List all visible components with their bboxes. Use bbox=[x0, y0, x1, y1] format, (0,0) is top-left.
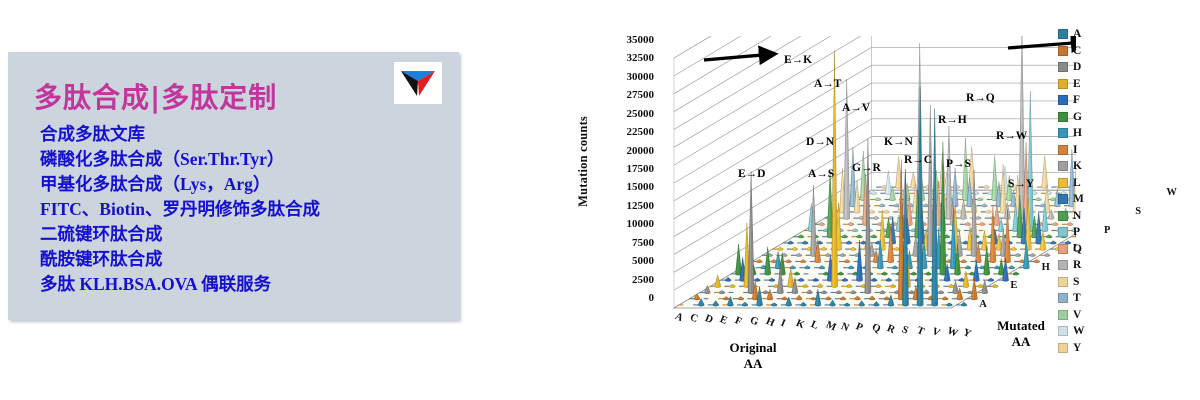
legend-label: R bbox=[1073, 259, 1081, 271]
promo-line: 合成多肽文库 bbox=[40, 122, 440, 147]
peak-annotation-A-to-S: A→S bbox=[808, 168, 834, 180]
peak-annotation-K-to-N: K→N bbox=[884, 136, 913, 148]
y-axis-tick: 32500 bbox=[627, 53, 655, 63]
z-axis-tick-E: E bbox=[1010, 280, 1017, 291]
z-axis-tick-A: A bbox=[979, 299, 987, 310]
legend-swatch-icon bbox=[1058, 178, 1068, 188]
data-cone bbox=[1034, 259, 1040, 262]
legend-swatch-icon bbox=[1058, 29, 1068, 39]
z-axis-tick-S: S bbox=[1135, 206, 1141, 217]
x-axis-tick-T: T bbox=[915, 325, 926, 338]
legend-label: V bbox=[1073, 309, 1081, 321]
peak-annotation-R-to-Q: R→Q bbox=[966, 92, 995, 104]
x-axis-tick-Y: Y bbox=[961, 327, 972, 340]
legend-label: W bbox=[1073, 325, 1085, 337]
x-axis-title: OriginalAA bbox=[698, 340, 808, 372]
data-cone bbox=[992, 284, 998, 287]
legend-item-C[interactable]: C bbox=[1058, 43, 1116, 60]
legend-label: A bbox=[1073, 28, 1081, 40]
peak-annotation-D-to-N: D→N bbox=[806, 136, 834, 148]
z-axis-tick-L: L bbox=[1073, 243, 1080, 254]
legend-swatch-icon bbox=[1058, 62, 1068, 72]
legend-item-T[interactable]: T bbox=[1058, 290, 1116, 307]
legend-label: C bbox=[1073, 45, 1081, 57]
y-axis-tick: 2500 bbox=[632, 275, 654, 285]
x-axis-tick-S: S bbox=[900, 324, 910, 336]
legend-label: H bbox=[1073, 127, 1082, 139]
promo-title: 多肽合成|多肽定制 bbox=[34, 76, 277, 116]
y-axis-tick: 30000 bbox=[627, 72, 655, 82]
x-axis-tick-P: P bbox=[855, 322, 865, 335]
z-axis-title: MutatedAA bbox=[976, 318, 1066, 350]
company-logo bbox=[394, 62, 442, 104]
legend-swatch-icon bbox=[1058, 95, 1068, 105]
y-axis-tick: 12500 bbox=[627, 201, 655, 211]
peak-annotation-A-to-T: A→T bbox=[814, 78, 841, 90]
mutation-counts-3d-chart: Mutation counts 350003250030000275002500… bbox=[580, 18, 1192, 386]
legend-item-Y[interactable]: Y bbox=[1058, 340, 1116, 357]
legend-swatch-icon bbox=[1058, 227, 1068, 237]
peak-annotation-A-to-V: A→V bbox=[842, 102, 870, 114]
peak-annotation-R-to-W: R→W bbox=[996, 130, 1027, 142]
legend-label: L bbox=[1073, 177, 1081, 189]
peak-annotation-G-to-R: G→R bbox=[852, 162, 881, 174]
legend-label: T bbox=[1073, 292, 1081, 304]
legend-swatch-icon bbox=[1058, 211, 1068, 221]
legend-label: I bbox=[1073, 144, 1077, 156]
y-axis-tick: 17500 bbox=[627, 164, 655, 174]
peak-annotation-R-to-H: R→H bbox=[938, 114, 967, 126]
legend-swatch-icon bbox=[1058, 161, 1068, 171]
peak-annotation-R-to-C: R→C bbox=[904, 154, 932, 166]
z-axis-tick-P: P bbox=[1104, 225, 1110, 236]
legend-swatch-icon bbox=[1058, 79, 1068, 89]
legend-item-W[interactable]: W bbox=[1058, 323, 1116, 340]
data-cone bbox=[961, 302, 967, 306]
legend-swatch-icon bbox=[1058, 244, 1068, 254]
promo-line: FITC、Biotin、罗丹明修饰多肽合成 bbox=[40, 197, 440, 222]
legend-item-E[interactable]: E bbox=[1058, 76, 1116, 93]
promo-line: 酰胺键环肽合成 bbox=[40, 247, 440, 272]
legend-swatch-icon bbox=[1058, 260, 1068, 270]
x-axis-tick-V: V bbox=[930, 326, 941, 339]
legend-item-V[interactable]: V bbox=[1058, 307, 1116, 324]
legend-label: Y bbox=[1073, 342, 1081, 354]
peak-annotation-E-to-D: E→D bbox=[738, 168, 765, 180]
legend-item-I[interactable]: I bbox=[1058, 142, 1116, 159]
legend-swatch-icon bbox=[1058, 277, 1068, 287]
y-axis-tick: 7500 bbox=[632, 238, 654, 248]
peak-annotation-P-to-S: P→S bbox=[946, 158, 971, 170]
legend-item-K[interactable]: K bbox=[1058, 158, 1116, 175]
legend-item-F[interactable]: F bbox=[1058, 92, 1116, 109]
y-axis-tick: 20000 bbox=[627, 146, 655, 156]
logo-icon bbox=[398, 66, 438, 100]
y-axis-ticks: 3500032500300002750025000225002000017500… bbox=[598, 40, 654, 298]
legend-swatch-icon bbox=[1058, 293, 1068, 303]
legend-label: M bbox=[1073, 193, 1084, 205]
legend-swatch-icon bbox=[1058, 46, 1068, 56]
legend-swatch-icon bbox=[1058, 145, 1068, 155]
z-axis-tick-H: H bbox=[1042, 262, 1050, 273]
legend-item-D[interactable]: D bbox=[1058, 59, 1116, 76]
promo-line: 磷酸化多肽合成（Ser.Thr.Tyr） bbox=[40, 147, 440, 172]
y-axis-title: Mutation counts bbox=[576, 116, 591, 207]
legend-item-G[interactable]: G bbox=[1058, 109, 1116, 126]
promo-line: 多肽 KLH.BSA.OVA 偶联服务 bbox=[40, 272, 440, 297]
legend-label: S bbox=[1073, 276, 1079, 288]
promo-line: 甲基化多肽合成（Lys，Arg） bbox=[40, 172, 440, 197]
promo-panel: 多肽合成|多肽定制 合成多肽文库 磷酸化多肽合成（Ser.Thr.Tyr） 甲基… bbox=[8, 52, 459, 320]
legend-label: G bbox=[1073, 111, 1082, 123]
promo-service-list: 合成多肽文库 磷酸化多肽合成（Ser.Thr.Tyr） 甲基化多肽合成（Lys，… bbox=[40, 122, 440, 297]
legend-label: N bbox=[1073, 210, 1081, 222]
data-cone bbox=[1044, 253, 1050, 256]
legend-item-Q[interactable]: Q bbox=[1058, 241, 1116, 258]
y-axis-tick: 10000 bbox=[627, 219, 655, 229]
peak-annotation-E-to-K: E→K bbox=[784, 54, 812, 66]
legend-item-S[interactable]: S bbox=[1058, 274, 1116, 291]
x-axis-tick-W: W bbox=[946, 326, 960, 340]
y-axis-tick: 5000 bbox=[632, 256, 654, 266]
legend-item-L[interactable]: L bbox=[1058, 175, 1116, 192]
promo-line: 二硫键环肽合成 bbox=[40, 222, 440, 247]
legend-swatch-icon bbox=[1058, 112, 1068, 122]
y-axis-tick: 25000 bbox=[627, 109, 655, 119]
y-axis-tick: 27500 bbox=[627, 90, 655, 100]
legend-item-N[interactable]: N bbox=[1058, 208, 1116, 225]
legend-label: F bbox=[1073, 94, 1080, 106]
legend-label: E bbox=[1073, 78, 1081, 90]
legend-label: D bbox=[1073, 61, 1081, 73]
legend-swatch-icon bbox=[1058, 326, 1068, 336]
legend-item-R[interactable]: R bbox=[1058, 257, 1116, 274]
peak-annotation-S-to-Y: S→Y bbox=[1008, 178, 1034, 190]
legend-item-A[interactable]: A bbox=[1058, 26, 1116, 43]
legend-item-H[interactable]: H bbox=[1058, 125, 1116, 142]
y-axis-tick: 22500 bbox=[627, 127, 655, 137]
legend-swatch-icon bbox=[1058, 128, 1068, 138]
y-axis-tick: 35000 bbox=[627, 35, 655, 45]
legend-swatch-icon bbox=[1058, 194, 1068, 204]
y-axis-tick: 15000 bbox=[627, 182, 655, 192]
legend-label: P bbox=[1073, 226, 1080, 238]
data-cone bbox=[1013, 272, 1019, 275]
legend-label: K bbox=[1073, 160, 1082, 172]
legend-swatch-icon bbox=[1058, 310, 1068, 320]
legend-swatch-icon bbox=[1058, 343, 1068, 353]
z-axis-tick-W: W bbox=[1166, 187, 1177, 198]
y-axis-tick: 0 bbox=[649, 293, 655, 303]
legend-item-M[interactable]: M bbox=[1058, 191, 1116, 208]
chart-legend: ACDEFGHIKLMNPQRSTVWY bbox=[1058, 26, 1116, 356]
